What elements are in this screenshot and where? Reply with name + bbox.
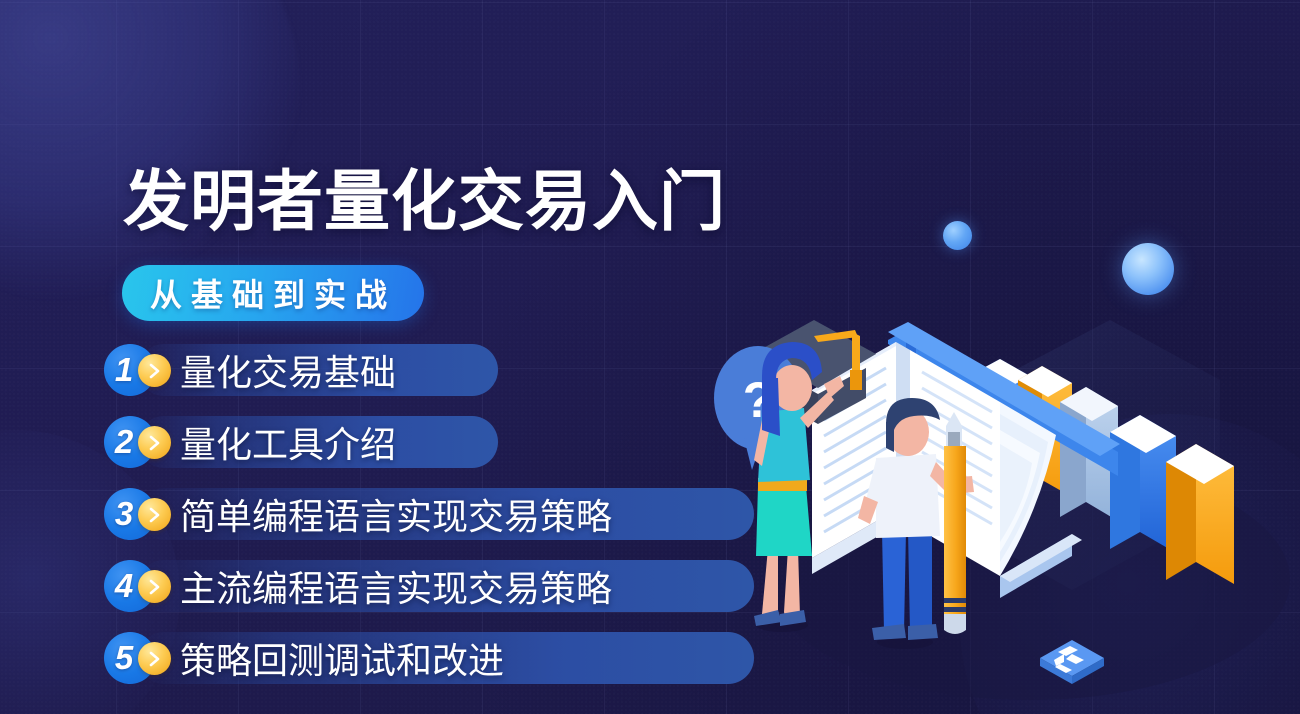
list-item-number: 1 [115,353,133,386]
glow-dot-small [943,221,972,250]
list-item-number: 5 [115,641,133,674]
list-item-number: 3 [115,497,133,530]
list-item[interactable]: 1 量化交易基础 [104,344,612,396]
man-shoe-right [908,624,938,640]
chevron-right-icon [138,426,171,459]
list-item[interactable]: 2 量化工具介绍 [104,416,612,468]
man-jeans-right [908,530,932,632]
list-item-label: 策略回测调试和改进 [180,632,504,684]
list-item-label: 简单编程语言实现交易策略 [180,488,612,540]
chevron-right-icon [138,498,171,531]
page-title: 发明者量化交易入门 [123,168,726,234]
list-item-number: 4 [115,569,133,602]
list-item[interactable]: 4 主流编程语言实现交易策略 [104,560,612,612]
list-item-label: 主流编程语言实现交易策略 [180,560,612,612]
curriculum-list: 1 量化交易基础 2 量化工具介绍 3 [104,344,612,704]
man-shirt [876,454,940,538]
chevron-right-icon [138,642,171,675]
list-item-label: 量化交易基础 [180,344,396,396]
cap-tassel-cord [852,332,860,372]
man-jeans-left [882,530,906,632]
subtitle-text: 从基础到实战 [150,270,396,316]
book-orange-2 [1166,444,1234,584]
pencil-tip-shade [948,432,960,448]
poster-canvas: ? [0,0,1300,714]
text-column: 发明者量化交易入门 从基础到实战 1 量化交易基础 2 [0,0,780,714]
hero-illustration: ? [700,280,1300,714]
list-item[interactable]: 3 简单编程语言实现交易策略 [104,488,612,540]
chevron-right-icon [138,354,171,387]
list-item-label: 量化工具介绍 [180,416,396,468]
list-item-number: 2 [115,425,133,458]
chevron-right-icon [138,570,171,603]
cap-tassel-end [850,370,862,390]
list-item[interactable]: 5 策略回测调试和改进 [104,632,612,684]
subtitle-badge: 从基础到实战 [122,265,424,321]
pencil-eraser [944,614,966,634]
